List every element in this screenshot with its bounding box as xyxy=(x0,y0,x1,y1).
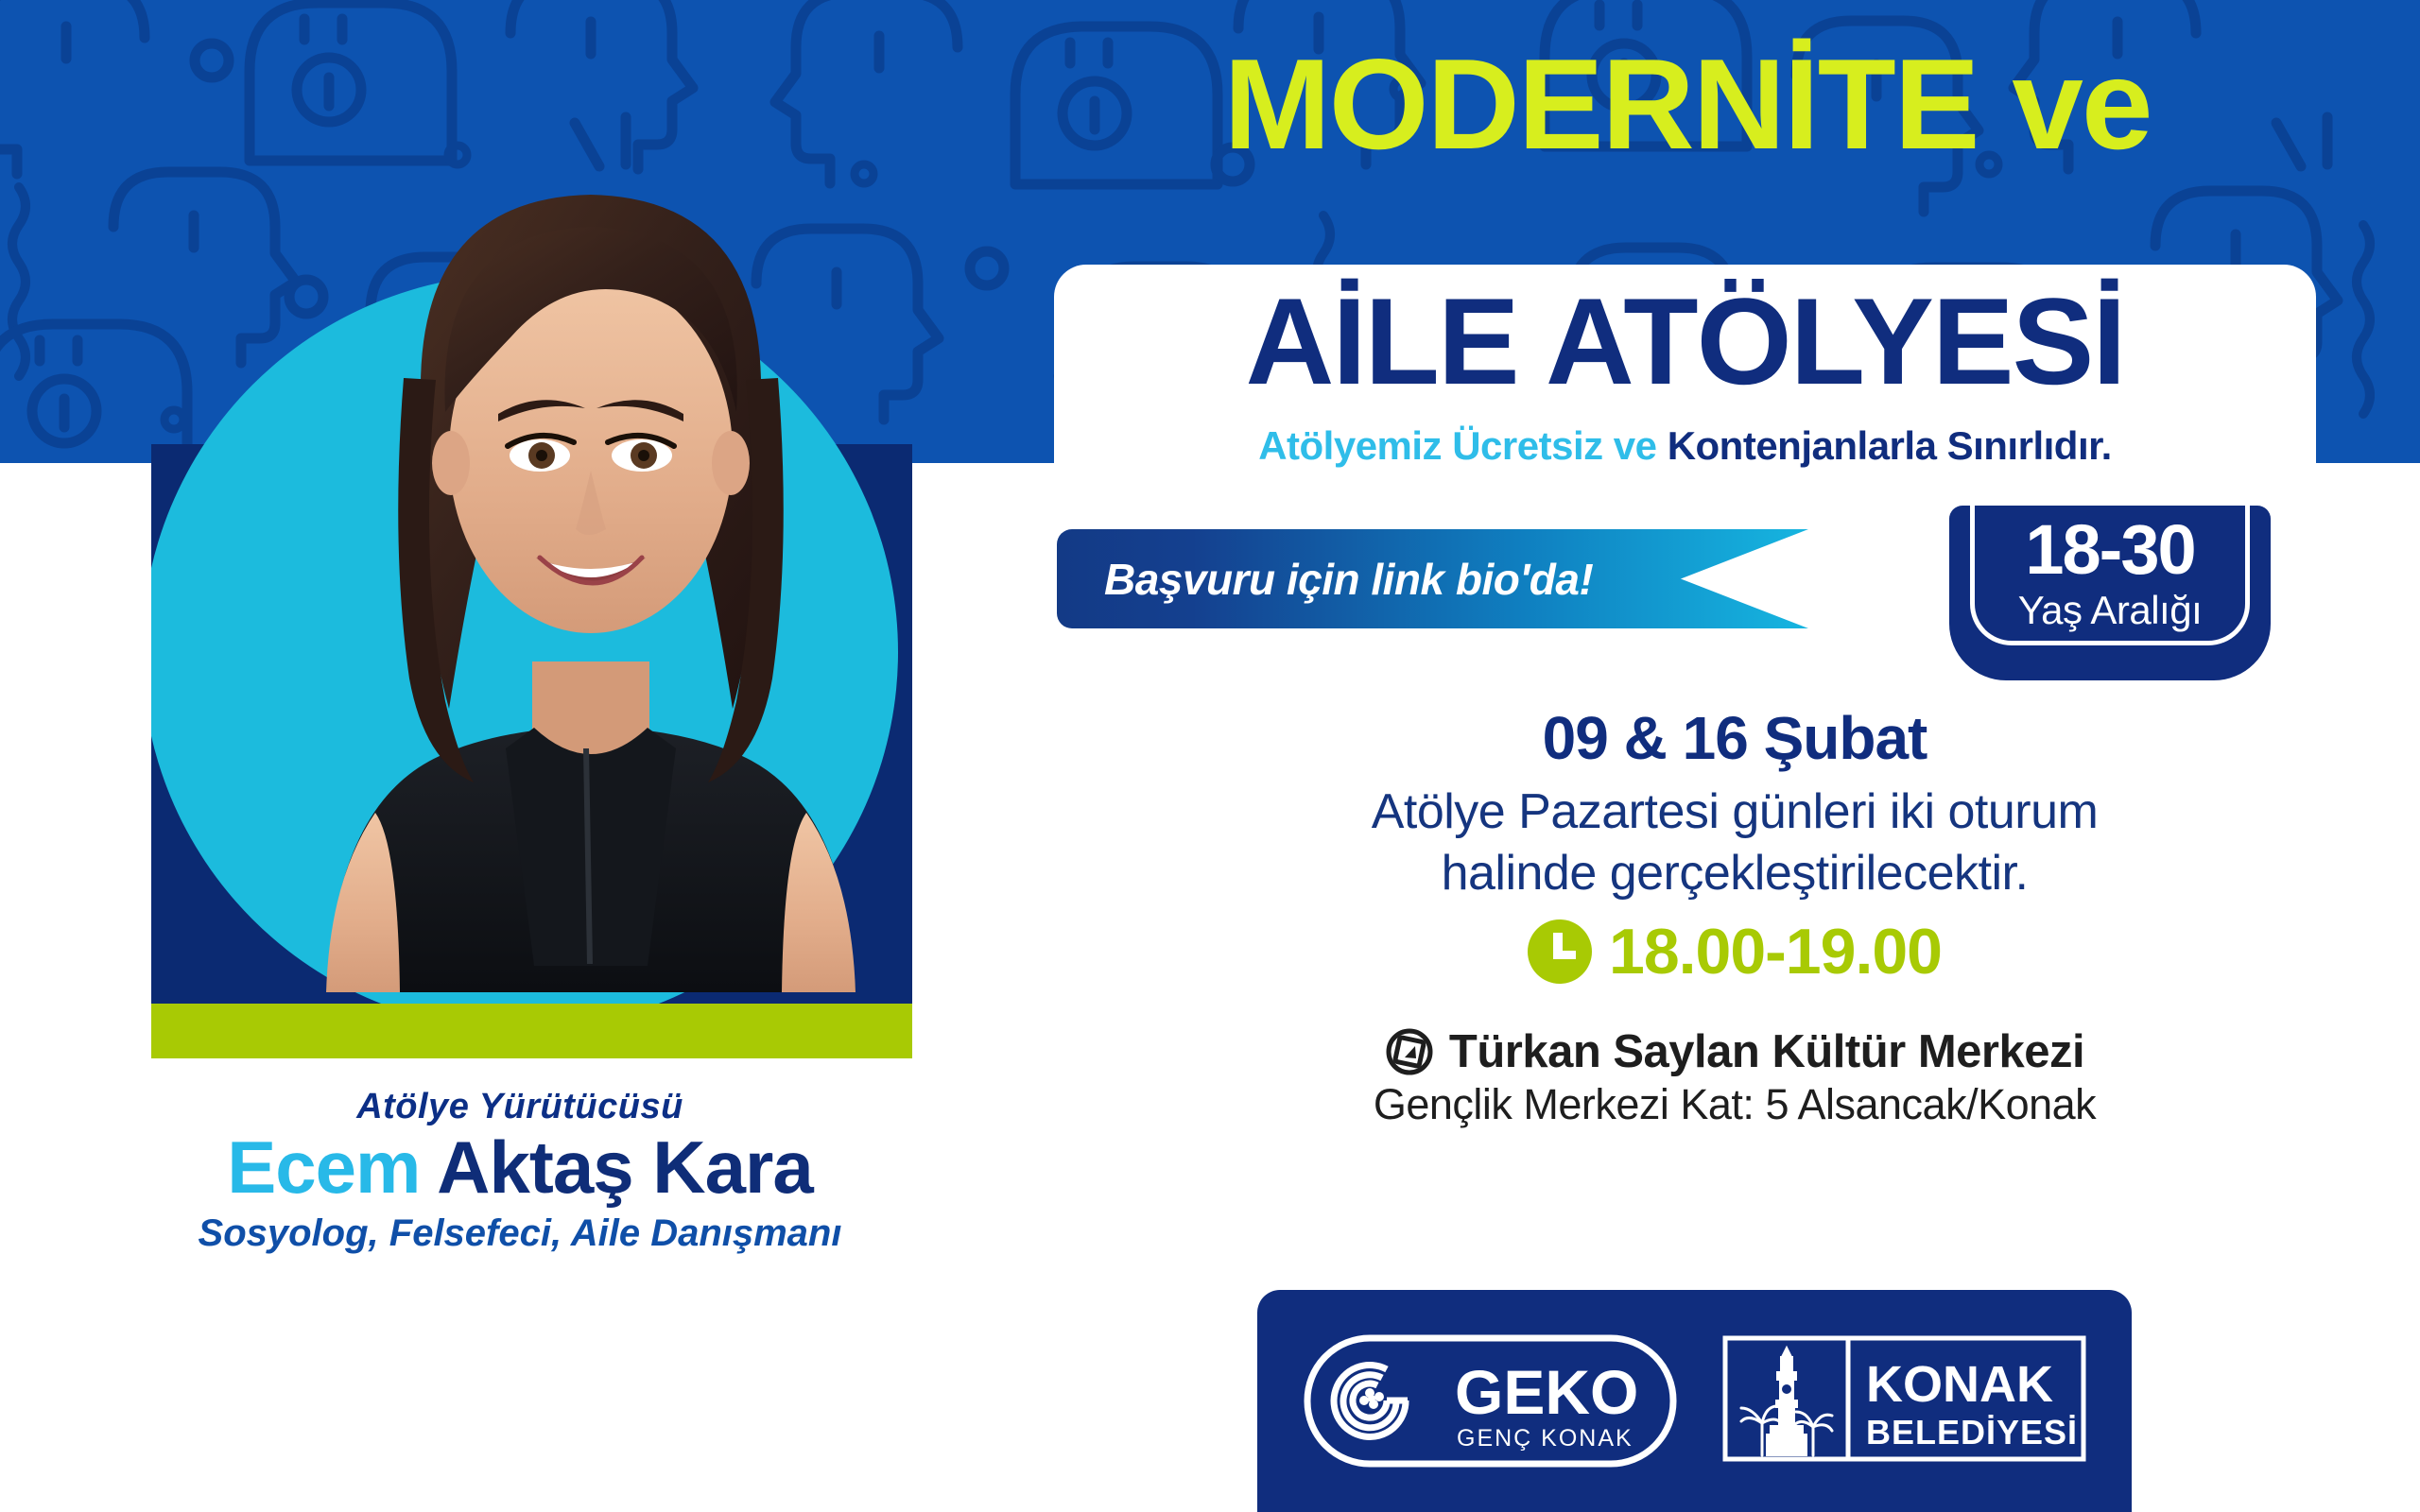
geko-logo-icon: GEKO GENÇ KONAK xyxy=(1304,1332,1677,1469)
event-dates: 09 & 16 Şubat xyxy=(1115,704,2354,774)
location-pin-icon xyxy=(1385,1027,1434,1076)
speaker-first-name: Ecem xyxy=(227,1125,420,1209)
schedule-block: 09 & 16 Şubat Atölye Pazartesi günleri i… xyxy=(1115,704,2354,984)
age-range-badge: 18-30 Yaş Aralığı xyxy=(1949,506,2271,680)
event-time-row: 18.00-19.00 xyxy=(1115,919,2354,984)
venue-block: Türkan Saylan Kültür Merkezi Gençlik Mer… xyxy=(1115,1025,2354,1129)
speaker-name: Ecem Aktaş Kara xyxy=(0,1129,1040,1207)
event-description: Atölye Pazartesi günleri iki oturum hali… xyxy=(1115,782,2354,904)
age-range-number: 18-30 xyxy=(1949,515,2271,585)
event-description-line1: Atölye Pazartesi günleri iki oturum xyxy=(1115,782,2354,843)
photo-green-accent-bar xyxy=(151,1004,912,1058)
sponsor-logo-bar: GEKO GENÇ KONAK xyxy=(1257,1290,2132,1512)
geko-subtitle: GENÇ KONAK xyxy=(1457,1425,1633,1452)
venue-address: Gençlik Merkezi Kat: 5 Alsancak/Konak xyxy=(1115,1080,2354,1129)
title-card: AİLE ATÖLYESİ Atölyemiz Ücretsiz ve Kont… xyxy=(1054,265,2316,501)
event-description-line2: halinde gerçekleştirilecektir. xyxy=(1115,843,2354,904)
age-range-label: Yaş Aralığı xyxy=(1949,591,2271,630)
workshop-title: AİLE ATÖLYESİ xyxy=(1054,280,2316,403)
speaker-role: Atölye Yürütücüsü xyxy=(0,1087,1040,1127)
speaker-portrait xyxy=(260,113,922,992)
geko-wordmark: GEKO xyxy=(1455,1357,1638,1427)
apply-ribbon-label: Başvuru için link bio'da! xyxy=(1057,554,1593,605)
page-headline: MODERNİTE ve xyxy=(1054,40,2321,168)
venue-name-row: Türkan Saylan Kültür Merkezi xyxy=(1115,1025,2354,1078)
event-time: 18.00-19.00 xyxy=(1609,919,1942,984)
speaker-titles: Sosyolog, Felsefeci, Aile Danışmanı xyxy=(0,1212,1040,1255)
workshop-subtitle: Atölyemiz Ücretsiz ve Kontenjanlarla Sın… xyxy=(1054,423,2316,469)
speaker-photo-block xyxy=(151,0,912,1030)
workshop-subtitle-rest: Kontenjanlarla Sınırlıdır. xyxy=(1657,423,2112,468)
konak-belediyesi-logo-icon: KONAK BELEDİYESİ xyxy=(1722,1332,2086,1469)
venue-name: Türkan Saylan Kültür Merkezi xyxy=(1449,1025,2084,1078)
workshop-subtitle-highlight: Atölyemiz Ücretsiz ve xyxy=(1258,423,1656,468)
poster-root: Atölye Yürütücüsü Ecem Aktaş Kara Sosyol… xyxy=(0,0,2420,1512)
konak-subtitle: BELEDİYESİ xyxy=(1866,1413,2078,1452)
speaker-last-name: Aktaş Kara xyxy=(420,1125,812,1209)
apply-ribbon[interactable]: Başvuru için link bio'da! xyxy=(1057,529,1808,628)
clock-icon xyxy=(1528,919,1592,984)
konak-wordmark: KONAK xyxy=(1866,1356,2053,1413)
speaker-caption: Atölye Yürütücüsü Ecem Aktaş Kara Sosyol… xyxy=(0,1087,1040,1255)
